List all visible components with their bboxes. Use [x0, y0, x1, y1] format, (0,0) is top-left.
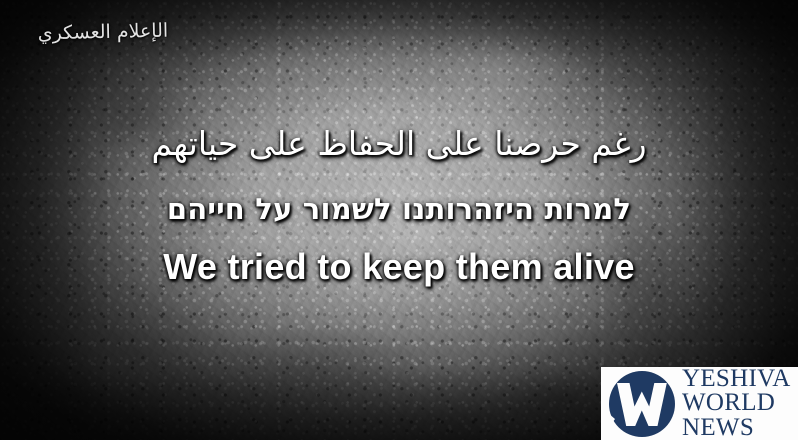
subtitle-line-arabic: رغم حرصنا على الحفاظ على حياتهم [0, 118, 798, 170]
wordmark-line-world: WORLD [682, 391, 798, 416]
yeshiva-world-news-logo: YESHIVA WORLD NEWS [601, 367, 798, 440]
video-frame: الإعلام العسكري رغم حرصنا على الحفاظ على… [0, 0, 798, 440]
wordmark-line-news: NEWS [682, 416, 798, 440]
military-media-watermark: الإعلام العسكري [33, 20, 173, 47]
subtitle-block: رغم حرصنا على الحفاظ على حياتهم למרות הי… [0, 118, 798, 290]
yeshiva-w-mark-icon [606, 369, 678, 438]
yeshiva-world-news-wordmark: YESHIVA WORLD NEWS [678, 367, 798, 440]
subtitle-line-hebrew: למרות היזהרותנו לשמור על חייהם [0, 186, 798, 232]
wordmark-line-yeshiva: YESHIVA [682, 367, 798, 391]
subtitle-line-english: We tried to keep them alive [0, 244, 798, 290]
